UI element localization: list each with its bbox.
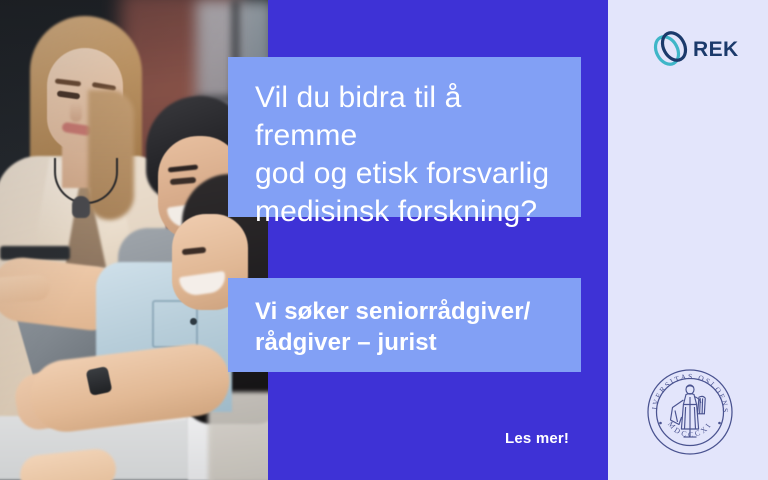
recruitment-banner: Vil du bidra til å fremme god og etisk f… xyxy=(0,0,768,480)
headline-text: Vil du bidra til å fremme god og etisk f… xyxy=(255,79,555,231)
job-title-textbox: Vi søker seniorrådgiver/ rådgiver – juri… xyxy=(228,278,581,372)
photo-person3-button-top xyxy=(190,318,197,325)
photo-person2-belt xyxy=(0,246,70,260)
headline-textbox: Vil du bidra til å fremme god og etisk f… xyxy=(228,57,581,217)
rek-logo[interactable]: REK xyxy=(650,27,736,71)
rek-interlocking-rings-icon xyxy=(650,28,690,70)
job-title-text: Vi søker seniorrådgiver/ rådgiver – juri… xyxy=(255,296,555,358)
svg-text:UNIVERSITAS OSLOENSIS: UNIVERSITAS OSLOENSIS xyxy=(645,367,730,414)
uio-seal-logo[interactable]: UNIVERSITAS OSLOENSIS MDCCCXI xyxy=(645,367,735,457)
uio-top-legend: UNIVERSITAS OSLOENSIS xyxy=(645,367,730,414)
photo-person1-nose xyxy=(70,102,82,122)
read-more-link[interactable]: Les mer! xyxy=(505,430,569,447)
rek-wordmark: REK xyxy=(693,39,739,60)
photo-person1-pendant xyxy=(72,196,90,218)
